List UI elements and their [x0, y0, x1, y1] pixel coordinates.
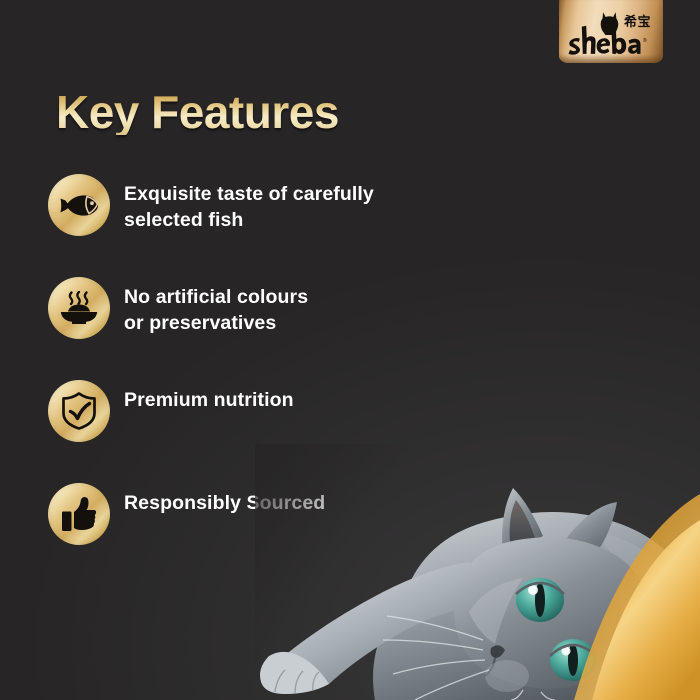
feature-item-no-artificial: No artificial colours or preservatives — [48, 277, 608, 380]
feature-item-responsibly-sourced: Responsibly Sourced — [48, 483, 608, 586]
cat-paw — [260, 652, 329, 694]
cat-muzzle — [485, 660, 529, 692]
steaming-bowl-icon-glyph — [60, 291, 98, 325]
feature-item-premium-nutrition: Premium nutrition — [48, 380, 608, 483]
cat-paw-toes — [275, 670, 319, 694]
thumbs-up-icon-glyph — [61, 496, 97, 532]
feature-list: Exquisite taste of carefully selected fi… — [48, 174, 608, 586]
feature-label: Exquisite taste of carefully selected fi… — [124, 182, 374, 233]
feature-label: No artificial colours or preservatives — [124, 285, 308, 336]
cat-whiskers — [383, 616, 555, 700]
steaming-bowl-icon — [48, 277, 110, 339]
fish-icon — [48, 174, 110, 236]
feature-item-fish: Exquisite taste of carefully selected fi… — [48, 174, 608, 277]
feature-label: Responsibly Sourced — [124, 491, 325, 517]
fish-icon-glyph — [59, 191, 99, 219]
shield-check-icon — [48, 380, 110, 442]
page-title: Key Features — [56, 89, 339, 135]
thumbs-up-icon — [48, 483, 110, 545]
cat-muzzle-line — [485, 658, 495, 676]
logo-chinese-name: 希宝 — [624, 16, 651, 29]
cat-cheek-highlight — [469, 578, 523, 644]
key-features-banner: 希宝 ® Key Features Exquisite taste of car… — [0, 0, 700, 700]
sheba-logo: 希宝 ® — [559, 0, 663, 63]
cat-nose — [491, 645, 506, 658]
shield-check-icon-glyph — [61, 392, 97, 430]
cat-eye-lower — [550, 639, 596, 681]
feature-label: Premium nutrition — [124, 388, 294, 414]
registered-trademark-symbol: ® — [643, 38, 647, 44]
